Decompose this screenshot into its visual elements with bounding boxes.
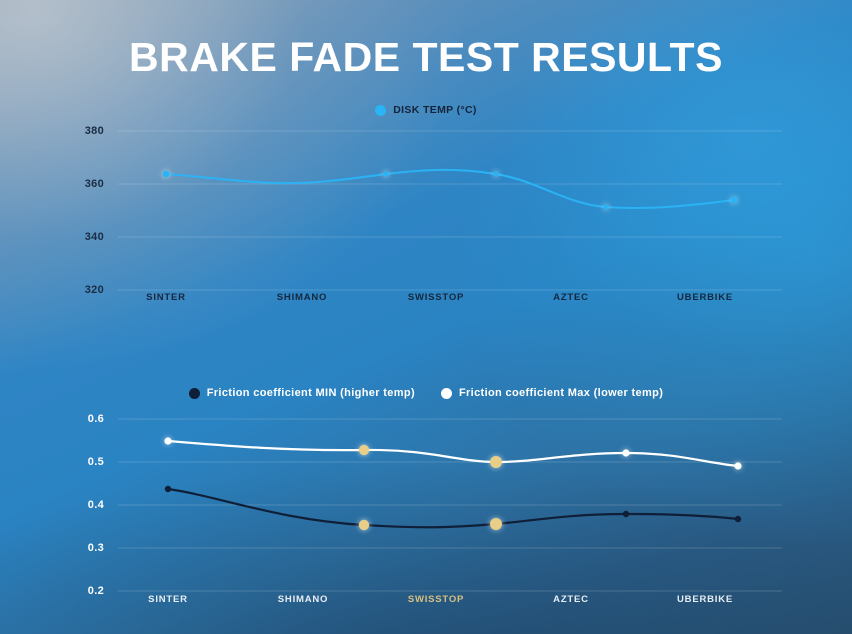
x-label-bot-sinter: SINTER [148,594,188,605]
legend-item-friction-min: Friction coefficient MIN (higher temp) [189,387,415,399]
x-label-top-aztec: AZTEC [553,292,589,303]
legend-dot-friction-min-icon [189,388,200,399]
friction-min-point-sinter [165,486,171,492]
y-tick-bot-0-2: 0.2 [60,585,104,597]
legend-label-disk-temp: DISK TEMP (°C) [393,104,477,116]
friction-coefficient-chart: 0.6 0.5 0.4 0.3 0.2 [60,410,792,610]
chart-canvas: BRAKE FADE TEST RESULTS DISK TEMP (°C) 3… [0,0,852,634]
disk-temp-plot-area: SINTER SHIMANO SWISSTOP AZTEC UBERBIKE [118,122,782,302]
legend-label-friction-min: Friction coefficient MIN (higher temp) [207,387,415,399]
y-tick-top-320: 320 [60,284,104,296]
friction-plot-area: SINTER SHIMANO SWISSTOP AZTEC UBERBIKE [118,410,782,610]
friction-min-line [168,489,738,527]
legend-bottom-chart: Friction coefficient MIN (higher temp) F… [0,387,852,399]
x-label-bot-aztec: AZTEC [553,594,589,605]
disk-temp-point-uberbike [731,197,737,203]
friction-max-point-uberbike [734,462,741,469]
friction-min-point-uberbike [735,516,741,522]
y-tick-top-380: 380 [60,125,104,137]
x-label-top-swisstop: SWISSTOP [408,292,464,303]
friction-min-point-aztec [623,511,629,517]
y-tick-top-360: 360 [60,178,104,190]
y-tick-bot-0-5: 0.5 [60,456,104,468]
x-label-top-shimano: SHIMANO [277,292,327,303]
disk-temp-point-sinter [163,171,170,178]
legend-top-chart: DISK TEMP (°C) [0,104,852,116]
disk-temp-point-shimano [383,171,388,176]
y-tick-bot-0-6: 0.6 [60,413,104,425]
friction-max-point-swisstop [490,456,502,468]
y-tick-bot-0-4: 0.4 [60,499,104,511]
x-label-top-uberbike: UBERBIKE [677,292,733,303]
x-label-top-sinter: SINTER [146,292,186,303]
x-label-bot-uberbike: UBERBIKE [677,594,733,605]
legend-item-disk-temp: DISK TEMP (°C) [375,104,477,116]
friction-min-point-swisstop [490,518,502,530]
friction-min-point-shimano [359,520,369,530]
legend-item-friction-max: Friction coefficient Max (lower temp) [441,387,663,399]
friction-max-point-aztec [622,449,629,456]
disk-temp-line [166,170,734,208]
x-label-bot-swisstop: SWISSTOP [408,594,464,605]
friction-max-point-shimano [359,445,369,455]
disk-temp-point-swisstop [493,171,498,176]
x-label-bot-shimano: SHIMANO [278,594,328,605]
y-tick-bot-0-3: 0.3 [60,542,104,554]
legend-label-friction-max: Friction coefficient Max (lower temp) [459,387,663,399]
friction-series-svg [118,410,782,610]
legend-dot-friction-max-icon [441,388,452,399]
disk-temp-series-svg [118,122,782,302]
friction-max-point-sinter [164,437,171,444]
disk-temp-chart: 380 360 340 320 SINTER SHIMANO SWISSTOP … [60,122,792,302]
legend-dot-disk-temp-icon [375,105,386,116]
disk-temp-point-aztec [603,204,608,209]
friction-max-line [168,441,738,466]
page-title: BRAKE FADE TEST RESULTS [0,34,852,81]
y-tick-top-340: 340 [60,231,104,243]
